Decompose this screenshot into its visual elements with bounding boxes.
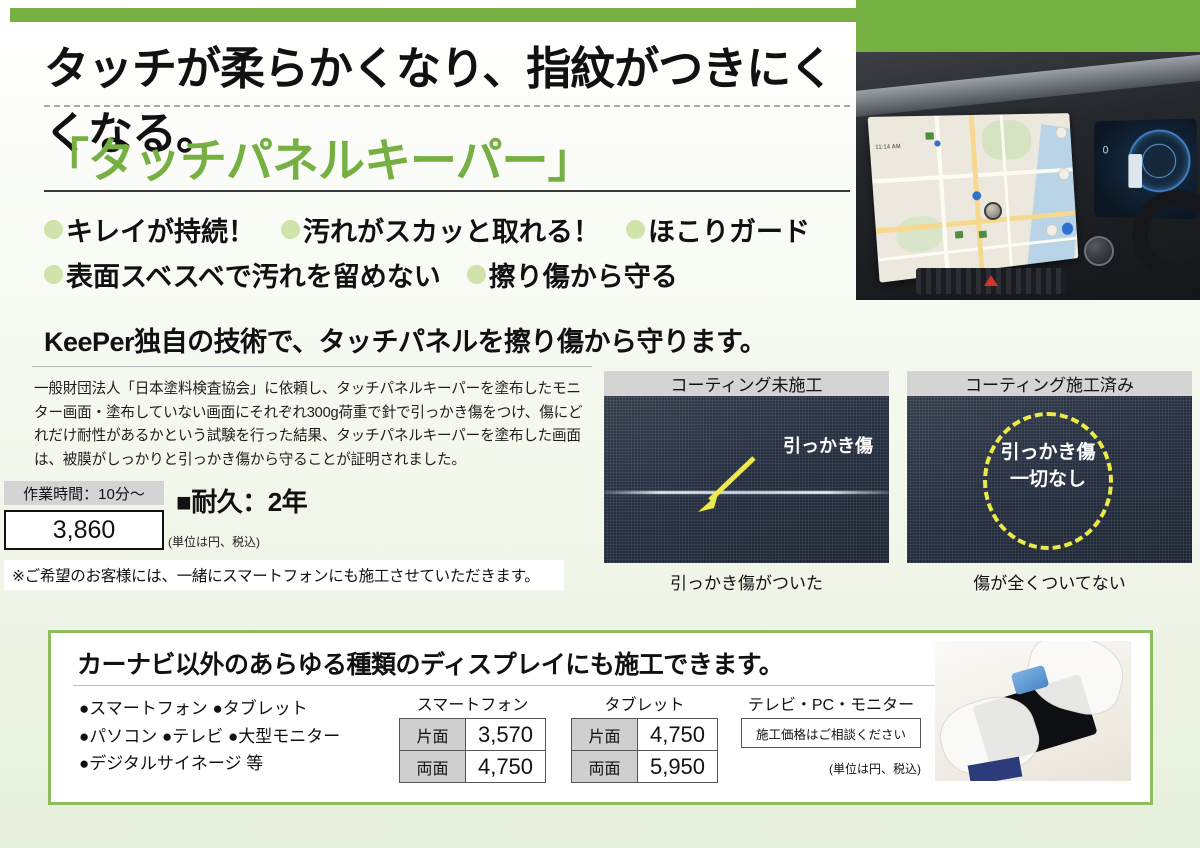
- row-label: 片面: [572, 719, 638, 751]
- arrow-icon: [692, 454, 762, 516]
- row-label: 片面: [400, 719, 466, 751]
- map-poi-icon: [979, 231, 987, 239]
- feature-row: 表面スベスベで汚れを留めない 擦り傷から守る: [44, 255, 854, 294]
- durability-label: ■耐久：2年: [176, 482, 307, 519]
- dashboard-trim: [856, 51, 1200, 119]
- comparison-uncoated: コーティング未施工 引っかき傷 引っかき傷がついた: [604, 371, 889, 594]
- map-poi-icon: [955, 231, 963, 239]
- table-row: 片面 3,570: [400, 719, 546, 751]
- nav-clock: 11:14 AM: [875, 144, 901, 151]
- device-list-item: ●デジタルサイネージ 等: [79, 750, 340, 778]
- control-knob[interactable]: [1084, 236, 1114, 266]
- smartphone-offer-note: ※ご希望のお客様には、一緒にスマートフォンにも施工させていただきます。: [4, 560, 564, 590]
- top-green-bar: [10, 8, 856, 22]
- feature-label: 汚れがスカッと取れる！: [303, 210, 600, 249]
- tv-pc-monitor-group: テレビ・PC・モニター 施工価格はご相談ください (単位は円、税込): [741, 691, 921, 777]
- map-park-area: [981, 120, 1032, 161]
- work-time-label: 作業時間：10分〜: [4, 481, 164, 505]
- no-scratch-annotation: 引っかき傷 一切なし: [983, 440, 1113, 493]
- bullet-dot-icon: [626, 220, 645, 239]
- feature-list: キレイが持続！ 汚れがスカッと取れる！ ほこりガード 表面スベスベで汚れを留めな…: [44, 210, 854, 300]
- phone-coating-photo: [935, 641, 1131, 781]
- row-label: 両面: [572, 751, 638, 783]
- tablet-price-group: タブレット 片面 4,750 両面 5,950: [571, 691, 718, 783]
- product-title: 「タッチパネルキーパー」: [42, 122, 842, 191]
- other-displays-box: カーナビ以外のあらゆる種類のディスプレイにも施工できます。 ●スマートフォン ●…: [48, 630, 1153, 805]
- row-value: 4,750: [466, 751, 546, 783]
- smartphone-price-table: 片面 3,570 両面 4,750: [399, 718, 546, 783]
- price-value: 3,860: [4, 510, 164, 550]
- study-paragraph: 一般財団法人「日本塗料検査協会」に依頼し、タッチパネルキーパーを塗布したモニター…: [34, 378, 590, 473]
- cluster-speed-readout: 0: [1103, 145, 1109, 157]
- feature-item: ほこりガード: [626, 210, 810, 249]
- device-list-item: ●スマートフォン ●タブレット: [79, 695, 340, 723]
- map-poi-icon: [925, 132, 934, 140]
- row-label: 両面: [400, 751, 466, 783]
- consult-price-note: 施工価格はご相談ください: [741, 718, 921, 748]
- table-row: 片面 4,750: [572, 719, 718, 751]
- comparison-header: コーティング未施工: [604, 371, 889, 396]
- bullet-dot-icon: [44, 220, 63, 239]
- feature-label: ほこりガード: [648, 210, 810, 249]
- feature-label: 擦り傷から守る: [489, 255, 678, 294]
- feature-label: 表面スベスベで汚れを留めない: [66, 255, 441, 294]
- advertisement-page: 11:14 AM 0 タッチ: [0, 0, 1200, 848]
- coated-screen-photo: 引っかき傷 一切なし: [907, 396, 1192, 563]
- tagline: KeePer独自の技術で、タッチパネルを擦り傷から守ります。: [44, 320, 844, 359]
- bullet-dot-icon: [44, 265, 63, 284]
- console-dial[interactable]: [984, 202, 1002, 220]
- feature-item: 表面スベスベで汚れを留めない: [44, 255, 441, 294]
- bullet-dot-icon: [467, 265, 486, 284]
- table-caption: テレビ・PC・モニター: [741, 691, 921, 715]
- table-caption: タブレット: [571, 691, 718, 715]
- table-unit-note: (単位は円、税込): [741, 760, 921, 777]
- feature-item: 汚れがスカッと取れる！: [281, 210, 600, 249]
- hazard-light-icon[interactable]: [984, 275, 998, 286]
- feature-item: キレイが持続！: [44, 210, 255, 249]
- comparison-coated: コーティング施工済み 引っかき傷 一切なし 傷が全くついてない: [907, 371, 1192, 594]
- device-list: ●スマートフォン ●タブレット ●パソコン ●テレビ ●大型モニター ●デジタル…: [79, 695, 340, 778]
- table-caption: スマートフォン: [399, 691, 546, 715]
- navigation-screen: 11:14 AM: [868, 113, 1079, 283]
- cluster-indicator-bar: [1128, 154, 1142, 188]
- comparison-header: コーティング施工済み: [907, 371, 1192, 396]
- gauge-inner-dial: [1142, 144, 1176, 179]
- row-value: 5,950: [638, 751, 718, 783]
- device-list-item: ●パソコン ●テレビ ●大型モニター: [79, 723, 340, 751]
- table-row: 両面 5,950: [572, 751, 718, 783]
- uncoated-screen-photo: 引っかき傷: [604, 396, 889, 563]
- row-value: 4,750: [638, 719, 718, 751]
- tablet-price-table: 片面 4,750 両面 5,950: [571, 718, 718, 783]
- title-divider: [44, 190, 850, 192]
- dashboard-body: 11:14 AM 0: [856, 52, 1200, 300]
- feature-row: キレイが持続！ 汚れがスカッと取れる！ ほこりガード: [44, 210, 854, 249]
- row-value: 3,570: [466, 719, 546, 751]
- scratch-annotation: 引っかき傷: [783, 432, 873, 458]
- price-unit-note: (単位は円、税込): [168, 533, 260, 550]
- comparison-caption: 引っかき傷がついた: [604, 569, 889, 594]
- no-scratch-line2: 一切なし: [983, 467, 1113, 494]
- comparison-caption: 傷が全くついてない: [907, 569, 1192, 594]
- car-dashboard-photo: 11:14 AM 0: [856, 0, 1200, 300]
- headline-divider: [44, 105, 850, 107]
- no-scratch-line1: 引っかき傷: [983, 440, 1113, 467]
- feature-label: キレイが持続！: [66, 210, 255, 249]
- smartphone-price-group: スマートフォン 片面 3,570 両面 4,750: [399, 691, 546, 783]
- tagline-rule: [32, 366, 592, 367]
- other-displays-title: カーナビ以外のあらゆる種類のディスプレイにも施工できます。: [77, 645, 783, 681]
- bullet-dot-icon: [281, 220, 300, 239]
- feature-item: 擦り傷から守る: [467, 255, 678, 294]
- table-row: 両面 4,750: [400, 751, 546, 783]
